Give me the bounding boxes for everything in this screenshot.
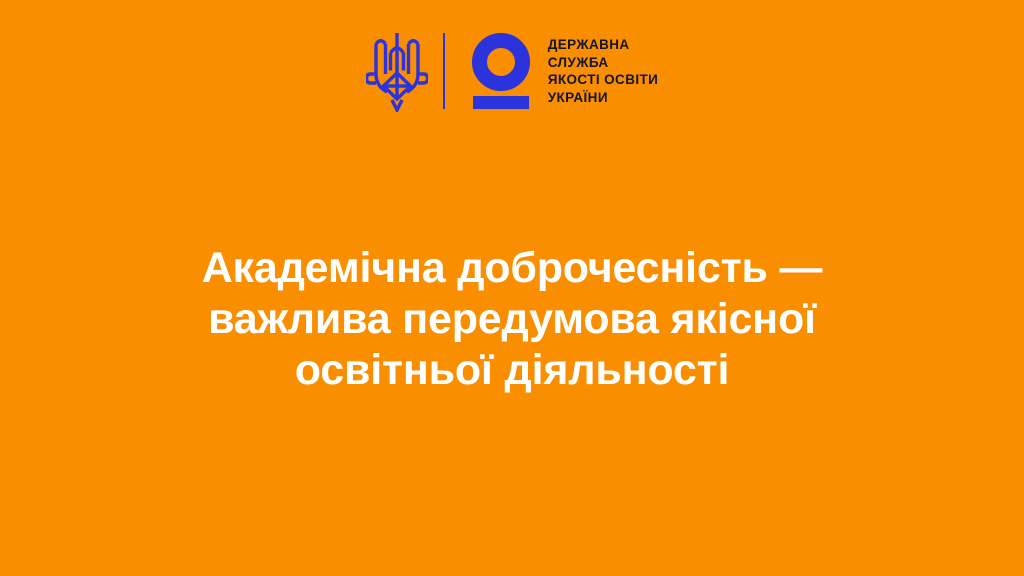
title-line-1: Академічна доброчесність — [90,243,934,294]
title-line-2: важлива передумова якісної [90,294,934,345]
logo-inner: ДЕРЖАВНА СЛУЖБА ЯКОСТІ ОСВІТИ УКРАЇНИ [366,30,659,112]
wordmark-line-2: СЛУЖБА [548,54,659,72]
logo-divider [443,33,445,109]
ukraine-trident-icon [366,30,428,112]
logo-wordmark: ДЕРЖАВНА СЛУЖБА ЯКОСТІ ОСВІТИ УКРАЇНИ [548,30,659,106]
title-line-3: освітньої діяльності [90,345,934,396]
emblem-ring-shape [472,33,530,91]
emblem-bar-shape [473,96,529,109]
logo-lockup: ДЕРЖАВНА СЛУЖБА ЯКОСТІ ОСВІТИ УКРАЇНИ [0,30,1024,112]
dsyao-ring-emblem-icon [472,30,532,110]
wordmark-line-1: ДЕРЖАВНА [548,36,659,54]
wordmark-line-3: ЯКОСТІ ОСВІТИ [548,71,659,89]
wordmark-line-4: УКРАЇНИ [548,89,659,107]
slide-title: Академічна доброчесність — важлива перед… [0,243,1024,396]
slide-root: ДЕРЖАВНА СЛУЖБА ЯКОСТІ ОСВІТИ УКРАЇНИ Ак… [0,0,1024,576]
